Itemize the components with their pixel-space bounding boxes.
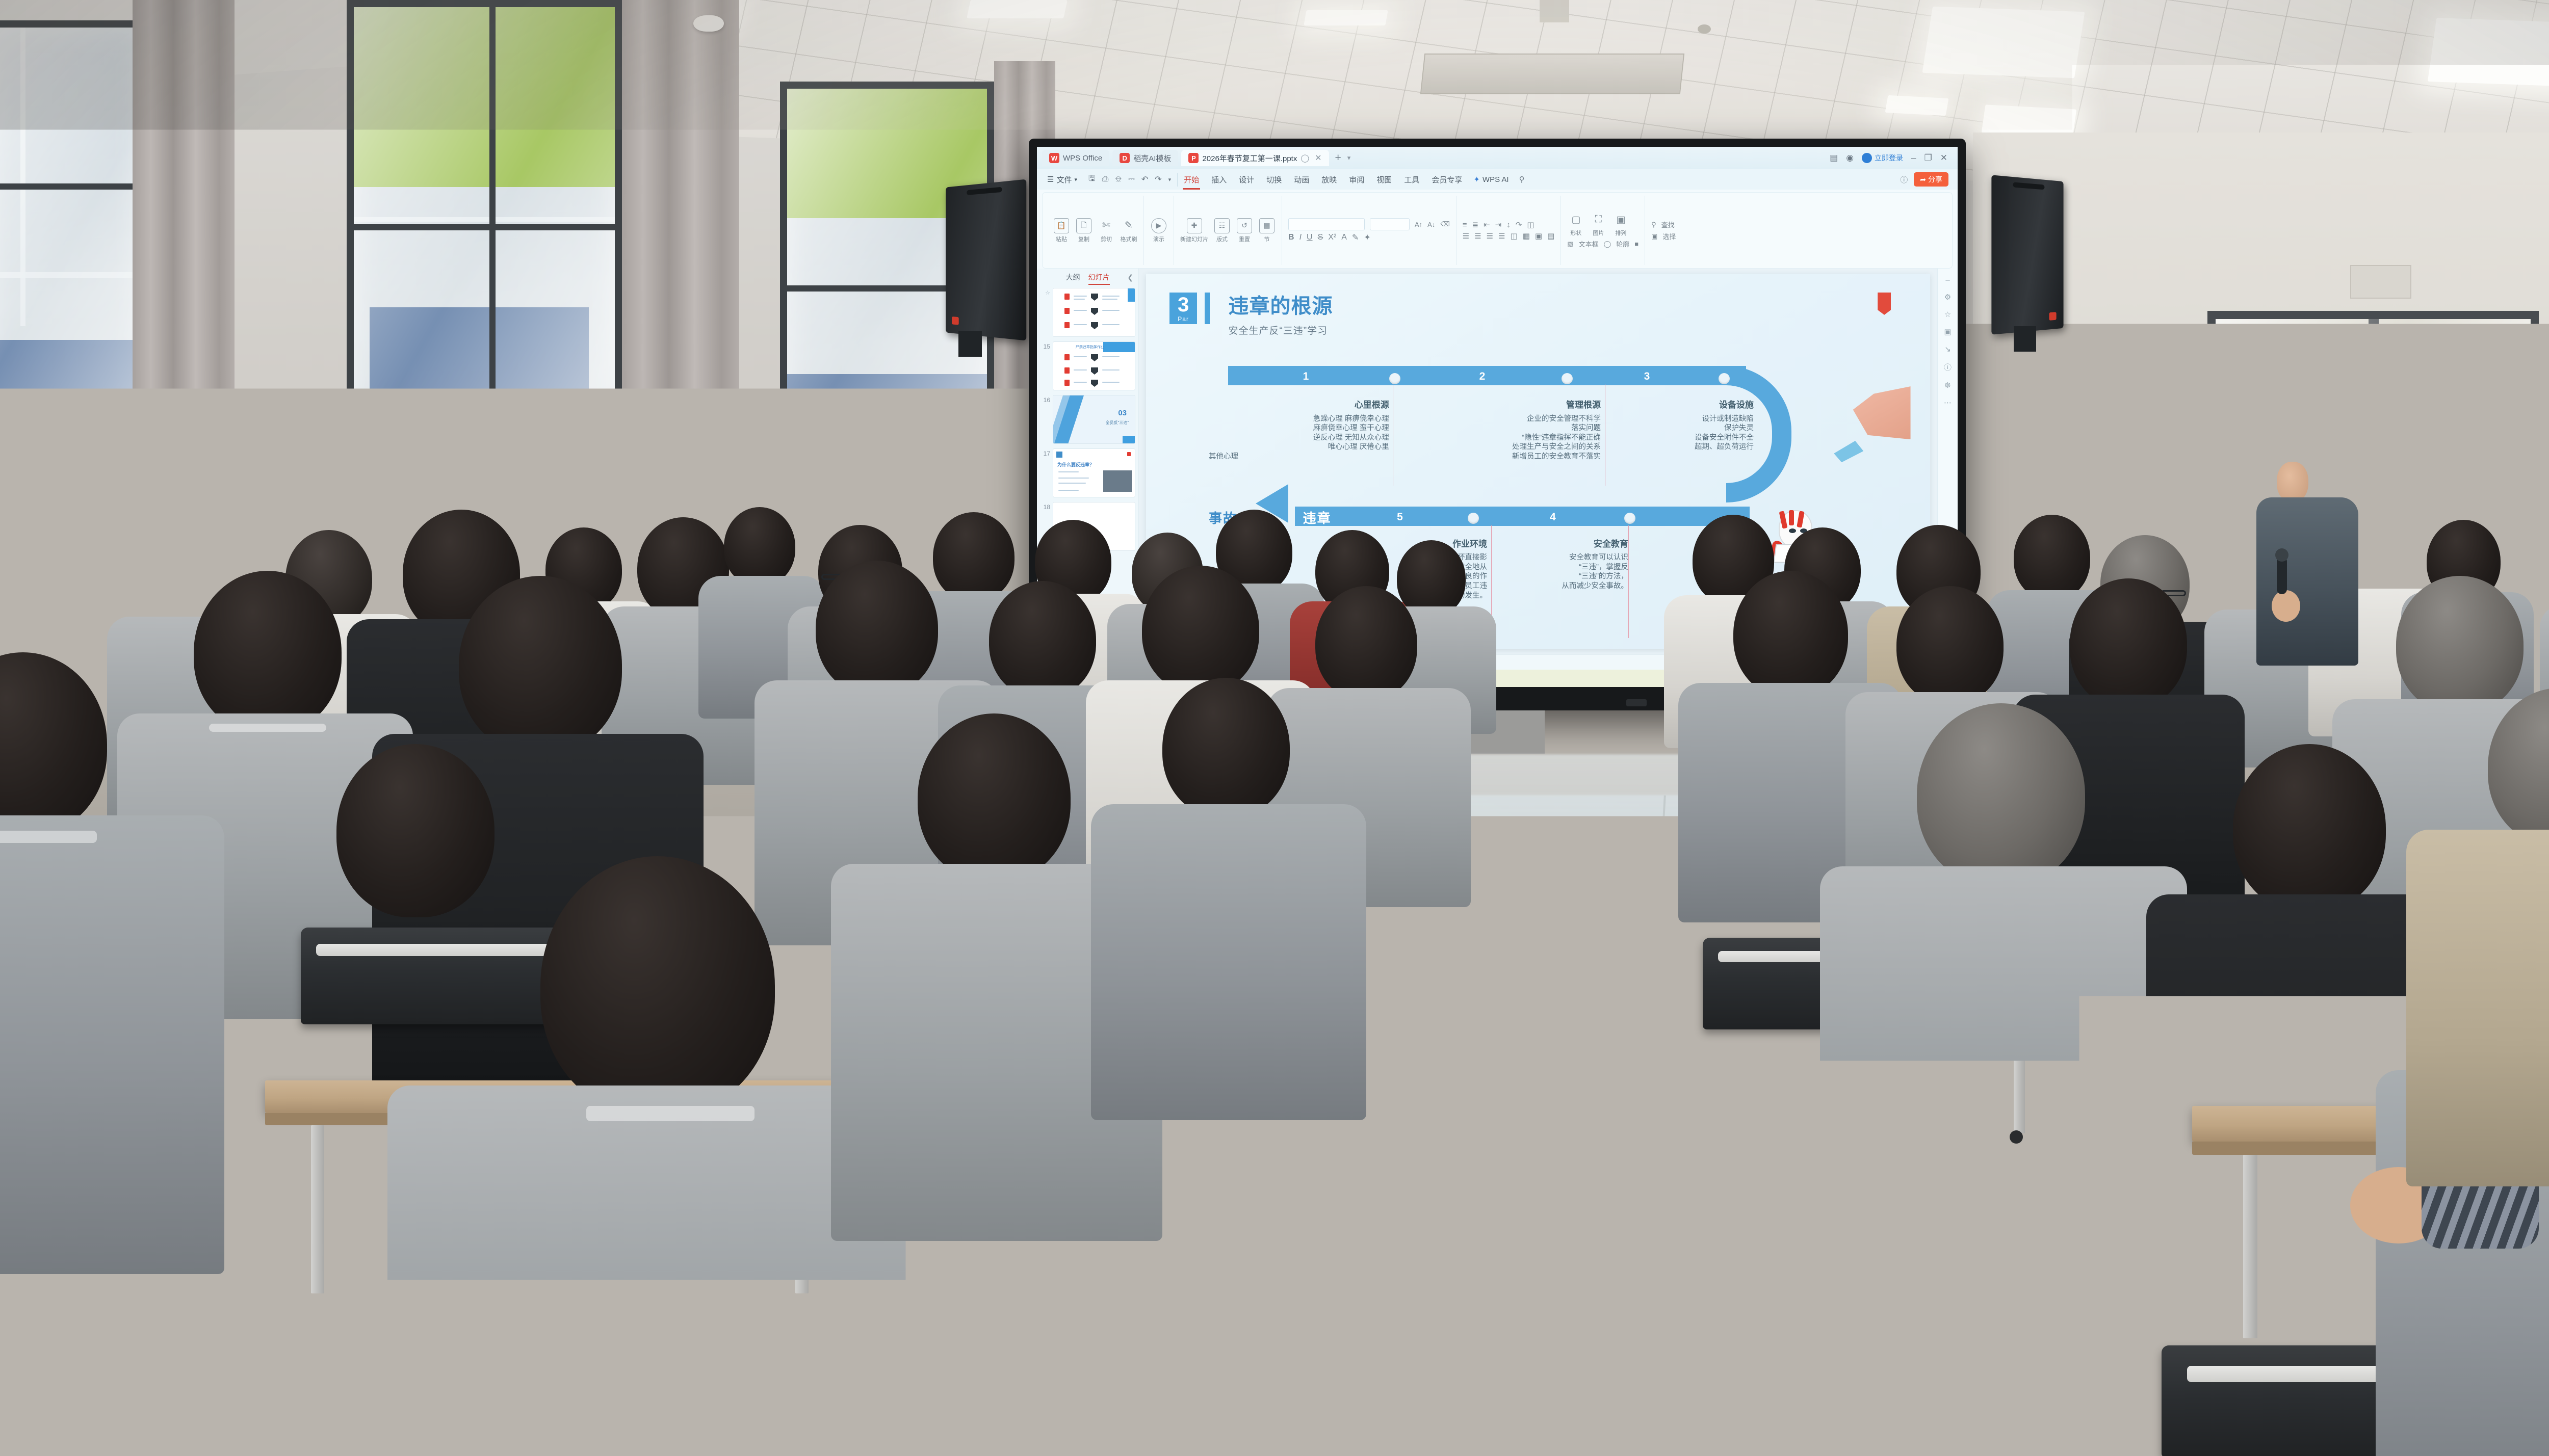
- slide-number: 18: [1040, 502, 1050, 511]
- ribbon-group-newslide: ✚ 新建幻灯片 ☷ 版式 ↺ 重置: [1174, 196, 1282, 265]
- ribbon-tab-tools[interactable]: 工具: [1403, 172, 1420, 187]
- ai-assistant-icon[interactable]: ☸: [1944, 381, 1951, 390]
- strikethrough-icon[interactable]: S: [1318, 233, 1323, 242]
- new-slide-label: 新建幻灯片: [1180, 235, 1208, 243]
- align-left-icon[interactable]: ☰: [1463, 231, 1469, 241]
- step-number-4: 4: [1550, 511, 1556, 523]
- wall-speaker-left: [946, 179, 1026, 341]
- section-label: 节: [1264, 235, 1270, 243]
- textbox-icon[interactable]: ▧: [1567, 240, 1573, 248]
- help-circle-icon[interactable]: ⓘ: [1944, 362, 1952, 373]
- thumbnail-star-icon: ☆: [1040, 288, 1050, 296]
- settings-sliders-icon[interactable]: ⚙: [1944, 293, 1951, 302]
- font-controls-row: A↑ A↓ ⌫: [1288, 218, 1450, 230]
- ribbon-tab-member[interactable]: 会员专享: [1430, 172, 1463, 187]
- ribbon-group-paragraph: ≡ ≣ ⇤ ⇥ ↕ ↷ ◫ ☰ ☰ ☰ ☰: [1456, 196, 1562, 265]
- flow-track-bottom: [1295, 507, 1750, 526]
- hamburger-icon: ☰: [1047, 175, 1054, 184]
- display-power-indicator: [1626, 699, 1647, 706]
- redo-icon[interactable]: ↷: [1155, 174, 1161, 184]
- ribbon-group-drawing: ▢ 形状 ⛶ 图片 ▣ 排列: [1561, 196, 1645, 265]
- picture-label: 图片: [1593, 229, 1604, 237]
- login-button[interactable]: 立即登录: [1862, 153, 1903, 163]
- tab-label: WPS Office: [1063, 154, 1102, 163]
- window-right-controls: ▤ ◉ 立即登录 – ❐ ✕: [1830, 153, 1953, 163]
- column-divider: [1628, 525, 1629, 638]
- column-line: 其他心理: [1209, 452, 1389, 462]
- column-line: 唯心心理 厌倦心里: [1209, 442, 1389, 452]
- align-right-icon[interactable]: ☰: [1487, 231, 1493, 241]
- ribbon-tab-transitions[interactable]: 切换: [1265, 172, 1283, 187]
- tab-cloud-icon[interactable]: ◯: [1300, 153, 1309, 163]
- reset-icon: ↺: [1237, 218, 1252, 233]
- column-line: 急躁心理 麻痹侥幸心理: [1209, 414, 1389, 424]
- reset-button[interactable]: ↺ 重置: [1236, 218, 1253, 243]
- tab-wps-office[interactable]: W WPS Office: [1042, 150, 1109, 166]
- docer-icon: D: [1120, 153, 1130, 163]
- section-number: 03: [1118, 409, 1127, 417]
- step-number-5: 5: [1397, 511, 1403, 523]
- thumbnail-panel-tabs: 大纲 幻灯片 ❮: [1037, 269, 1138, 286]
- search-print-icon[interactable]: ⎓: [1128, 175, 1135, 184]
- share-icon: ➦: [1920, 175, 1926, 184]
- step-column-1: 心里根源 急躁心理 麻痹侥幸心理 麻痹侥幸心理 蛮干心理 逆反心理 无知从众心理…: [1209, 400, 1389, 461]
- thumbnail-title: 严禁违章指挥作业: [1076, 345, 1104, 350]
- ribbon-tab-slideshow[interactable]: 放映: [1320, 172, 1338, 187]
- column-line: 超期、超负荷运行: [1612, 442, 1754, 452]
- wps-logo-icon: W: [1049, 153, 1059, 163]
- italic-icon[interactable]: I: [1299, 233, 1302, 242]
- tab-active-presentation[interactable]: P 2026年春节复工第一课.pptx ◯ ✕: [1181, 150, 1329, 166]
- close-button[interactable]: ✕: [1940, 153, 1947, 163]
- new-slide-button[interactable]: ✚ 新建幻灯片: [1180, 218, 1208, 243]
- shapes-icon: ▢: [1568, 212, 1583, 227]
- slide-thumbnail[interactable]: [1053, 288, 1135, 337]
- slide-number: 17: [1040, 448, 1050, 457]
- slide-title: 违章的根源: [1228, 289, 1333, 319]
- shapes-button[interactable]: ▢ 形状: [1567, 212, 1584, 237]
- format-painter-button[interactable]: ✎ 格式刷: [1120, 218, 1137, 243]
- presenter-face: [2277, 462, 2308, 502]
- percent-tools-icon[interactable]: ↘: [1944, 345, 1951, 354]
- column-line: “三违”，掌握反: [1503, 563, 1628, 572]
- list-item[interactable]: 17 为什么要反违章？: [1040, 448, 1135, 497]
- print-preview-icon[interactable]: ⎙: [1102, 175, 1109, 184]
- list-item[interactable]: 15 严禁违章指挥作业: [1040, 341, 1135, 390]
- ceiling-sprinkler: [1698, 24, 1711, 34]
- quick-access-toolbar: 🖫 ⎙ ⎒ ⎓ ↶ ↷ ▾: [1082, 173, 1178, 187]
- picture-button[interactable]: ⛶ 图片: [1590, 212, 1607, 237]
- chevron-down-icon[interactable]: ▾: [1347, 154, 1351, 162]
- column-divider: [1605, 384, 1605, 486]
- tab-slides[interactable]: 幻灯片: [1088, 272, 1110, 282]
- file-menu-button[interactable]: ☰ 文件 ▾: [1042, 174, 1082, 185]
- ribbon-tab-view[interactable]: 视图: [1375, 172, 1393, 187]
- app-tabbar: W WPS Office D 稻壳AI模板 P 2026年春节复工第一课.ppt…: [1037, 147, 1958, 169]
- find-icon[interactable]: ⚲: [1651, 221, 1656, 229]
- font-name-select[interactable]: [1288, 218, 1365, 230]
- window-glare: [0, 28, 141, 706]
- training-room-scene: W WPS Office D 稻壳AI模板 P 2026年春节复工第一课.ppt…: [0, 0, 2549, 1456]
- text-direction-icon[interactable]: ↷: [1516, 220, 1522, 229]
- column-divider: [1393, 384, 1393, 486]
- ribbon-tab-animations[interactable]: 动画: [1293, 172, 1310, 187]
- column-line: “隐性”违章指挥不能正确: [1405, 433, 1601, 443]
- step-number-2: 2: [1479, 370, 1486, 383]
- shirt-collar: [209, 724, 326, 732]
- justify-icon[interactable]: ☰: [1498, 231, 1505, 241]
- list-item[interactable]: ☆: [1040, 288, 1135, 337]
- smartart-icon[interactable]: ▦: [1523, 231, 1530, 241]
- ceiling-light: [1885, 95, 1949, 116]
- clear-format-icon[interactable]: ⌫: [1440, 220, 1449, 228]
- track-dot: [1468, 513, 1479, 524]
- copy-label: 复制: [1078, 235, 1089, 243]
- align-center-icon[interactable]: ☰: [1474, 231, 1481, 241]
- outdent-icon[interactable]: ⇤: [1484, 220, 1490, 229]
- share-label: 分享: [1928, 174, 1942, 184]
- indent-icon[interactable]: ⇥: [1495, 220, 1502, 229]
- speaker-mount: [2014, 326, 2036, 352]
- slide-thumbnail[interactable]: 严禁违章指挥作业: [1053, 341, 1135, 390]
- section-word: Par: [1178, 316, 1189, 322]
- ribbon-group-clipboard: 📋 粘贴 🗋 复制 ✄ 剪切: [1047, 196, 1144, 265]
- chevron-down-icon[interactable]: ▾: [1168, 176, 1172, 183]
- slide-thumbnail[interactable]: 为什么要反违章？: [1053, 448, 1135, 497]
- ribbon-tab-review[interactable]: 审阅: [1348, 172, 1365, 187]
- shirt-collar: [0, 831, 97, 843]
- new-tab-button[interactable]: +: [1332, 152, 1344, 164]
- column-line: 新增员工的安全教育不落实: [1405, 452, 1601, 462]
- user-avatar-icon: [1862, 153, 1872, 163]
- new-slide-icon: ✚: [1187, 218, 1202, 233]
- column-line: 设计或制造缺陷: [1612, 414, 1754, 424]
- menu-bar: ☰ 文件 ▾ 🖫 ⎙ ⎒ ⎓ ↶ ↷ ▾ 开始: [1037, 169, 1958, 190]
- arrange-label: 排列: [1615, 229, 1626, 237]
- column-line: 保护失灵: [1612, 423, 1754, 433]
- column-heading: 安全教育: [1503, 539, 1628, 550]
- scissors-icon: ✄: [1099, 218, 1114, 233]
- bold-icon[interactable]: B: [1288, 233, 1294, 242]
- wall-socket: [2075, 479, 2100, 502]
- speaker-mount: [958, 331, 982, 357]
- picture-icon: ⛶: [1591, 212, 1606, 227]
- copy-icon: 🗋: [1076, 218, 1091, 233]
- section-icon: ▤: [1259, 218, 1274, 233]
- chevron-left-icon[interactable]: ❮: [1127, 273, 1133, 282]
- paste-button[interactable]: 📋 粘贴: [1053, 218, 1070, 243]
- layout-icon: ☷: [1214, 218, 1230, 233]
- file-menu-label: 文件: [1056, 174, 1072, 185]
- ribbon-group-slides: ▶ 演示: [1144, 196, 1174, 265]
- smoke-detector: [693, 15, 724, 32]
- track-dot: [1719, 373, 1730, 384]
- step-column-4: 安全教育 安全教育可以认识 “三违”，掌握反 “三违”的方法， 从而减少安全事故…: [1503, 539, 1628, 591]
- outline-icon[interactable]: ◯: [1604, 240, 1611, 248]
- ceiling-light: [2428, 18, 2549, 87]
- slide-thumbnail[interactable]: 03 全员反“三违”: [1053, 395, 1135, 444]
- line-spacing-icon[interactable]: ↕: [1506, 221, 1511, 229]
- presenter-hand: [2272, 590, 2300, 622]
- favorites-star-icon[interactable]: ☆: [1944, 310, 1951, 319]
- tab-docer-templates[interactable]: D 稻壳AI模板: [1112, 150, 1178, 166]
- play-button[interactable]: ▶ 演示: [1150, 218, 1167, 243]
- mobile-sync-icon[interactable]: ▤: [1830, 153, 1838, 163]
- shapes-label: 形状: [1570, 229, 1581, 237]
- track-dot: [1562, 373, 1573, 384]
- minimize-panel-icon[interactable]: –: [1945, 276, 1949, 284]
- globe-icon[interactable]: ◉: [1846, 153, 1854, 163]
- section-number: 3: [1178, 295, 1189, 315]
- text-effects-icon[interactable]: ✦: [1364, 232, 1370, 243]
- ribbon-tab-strip: 开始 插入 设计 切换 动画 放映 审阅 视图 工具 会员专享 ✦ WPS AI: [1183, 172, 1524, 187]
- maximize-button[interactable]: ❐: [1924, 153, 1932, 163]
- step-number-3: 3: [1644, 370, 1650, 383]
- play-label: 演示: [1153, 235, 1164, 243]
- microphone-body: [2277, 557, 2287, 594]
- find-label: 查找: [1661, 220, 1675, 229]
- close-icon[interactable]: ✕: [1315, 153, 1321, 163]
- column-line: 企业的安全管理不科学: [1405, 414, 1601, 424]
- wps-ai-label: WPS AI: [1482, 175, 1509, 184]
- shrink-font-icon[interactable]: A↓: [1427, 221, 1435, 228]
- ceiling-projector-mount: [1540, 0, 1569, 22]
- arrange-button[interactable]: ▣ 排列: [1612, 212, 1629, 237]
- grow-font-icon[interactable]: A↑: [1415, 221, 1422, 228]
- columns-icon[interactable]: ◫: [1511, 231, 1518, 241]
- font-color-icon[interactable]: A: [1341, 233, 1347, 242]
- slide-subtitle: 安全生产反“三违”学习: [1228, 323, 1328, 337]
- microphone-head: [2275, 548, 2288, 562]
- layout-label: 版式: [1216, 235, 1228, 243]
- ceiling-air-vent: [1420, 54, 1684, 94]
- print-icon[interactable]: ⎒: [1115, 175, 1122, 184]
- ribbon-tab-design[interactable]: 设计: [1238, 172, 1255, 187]
- text-highlight-icon[interactable]: ✎: [1352, 232, 1359, 243]
- ceiling-light: [1304, 10, 1388, 25]
- step-number-1: 1: [1303, 370, 1309, 383]
- column-heading: 心里根源: [1209, 400, 1389, 411]
- underline-icon[interactable]: U: [1307, 233, 1313, 242]
- section-button[interactable]: ▤ 节: [1258, 218, 1276, 243]
- font-size-select[interactable]: [1370, 218, 1410, 230]
- tab-label: 稻壳AI模板: [1133, 153, 1171, 164]
- help-circle-icon[interactable]: ⓘ: [1900, 174, 1908, 185]
- track-dot: [1624, 513, 1635, 524]
- ceiling-light: [1922, 7, 2085, 78]
- column-line: 安全教育可以认识: [1503, 553, 1628, 563]
- arrange-icon: ▣: [1613, 212, 1628, 227]
- align-text-icon[interactable]: ◫: [1527, 220, 1534, 229]
- save-icon[interactable]: 🖫: [1088, 173, 1096, 187]
- column-line: 落实问题: [1405, 423, 1601, 433]
- select-icon[interactable]: ▣: [1651, 232, 1657, 241]
- column-line: 从而减少安全事故。: [1503, 581, 1628, 591]
- section-title: 全员反“三违”: [1106, 420, 1129, 426]
- ribbon-tab-insert[interactable]: 插入: [1210, 172, 1228, 187]
- blue-cloth-decoration: [1834, 439, 1863, 462]
- share-button[interactable]: ➦ 分享: [1914, 172, 1948, 187]
- hand-photo-decoration: [1850, 386, 1911, 439]
- column-line: 处理生产与安全之间的关系: [1405, 442, 1601, 452]
- column-line: 麻痹侥幸心理 蛮干心理: [1209, 423, 1389, 433]
- search-icon[interactable]: ⚲: [1519, 175, 1525, 184]
- paste-label: 粘贴: [1056, 235, 1067, 243]
- ribbon-group-editing: ⚲ 查找 ▣ 选择: [1645, 196, 1682, 265]
- bullet-list-icon[interactable]: ≡: [1463, 221, 1467, 229]
- thumbnail-title: 为什么要反违章？: [1057, 461, 1094, 468]
- format-painter-label: 格式刷: [1121, 235, 1137, 243]
- presenter-torso: [2256, 497, 2358, 666]
- powerpoint-file-icon: P: [1188, 153, 1199, 163]
- column-line: 逆反心理 无知从众心理: [1209, 433, 1389, 443]
- undo-icon[interactable]: ↶: [1141, 174, 1148, 184]
- slide-number: 15: [1040, 341, 1050, 350]
- column-heading: 管理根源: [1405, 400, 1601, 411]
- window-far-left: [0, 20, 148, 713]
- textbox-label: 文本框: [1579, 239, 1599, 249]
- column-heading: 设备设施: [1612, 400, 1754, 411]
- column-line: 设备安全附件不全: [1612, 433, 1754, 443]
- copy-button[interactable]: 🗋 复制: [1075, 218, 1093, 243]
- reflection-band: [1723, 1060, 1734, 1157]
- layout-button[interactable]: ☷ 版式: [1213, 218, 1231, 243]
- ribbon-group-font: A↑ A↓ ⌫ B I U S X² A ✎ ✦: [1282, 196, 1456, 265]
- step-column-3: 设备设施 设计或制造缺陷 保护失灵 设备安全附件不全 超期、超负荷运行: [1612, 400, 1754, 452]
- window-handle[interactable]: [805, 520, 811, 555]
- shirt-collar: [586, 1106, 755, 1121]
- superscript-icon[interactable]: X²: [1328, 233, 1336, 242]
- fill-icon[interactable]: ■: [1634, 240, 1638, 248]
- list-item[interactable]: 16 03 全员反“三违”: [1040, 395, 1135, 444]
- format-painter-icon: ✎: [1121, 218, 1136, 233]
- convert-icon[interactable]: ▣: [1535, 231, 1542, 241]
- chevron-down-icon: ▾: [1074, 176, 1077, 183]
- shapes-library-icon[interactable]: ▣: [1944, 327, 1951, 336]
- reflection-band: [1484, 1054, 1733, 1065]
- play-circle-icon: ▶: [1151, 218, 1166, 233]
- more-options-icon[interactable]: ⋯: [1944, 398, 1952, 407]
- outline-label: 轮廓: [1616, 239, 1629, 249]
- section-badge: 3 Par: [1169, 293, 1197, 324]
- tab-outline[interactable]: 大纲: [1066, 272, 1080, 282]
- column-line: “三违”的方法，: [1503, 572, 1628, 581]
- flow-arrow-label: 违章: [1303, 508, 1332, 527]
- reflection-band: [1427, 1146, 1744, 1157]
- paste-icon: 📋: [1054, 218, 1069, 233]
- menubar-right: ⓘ ➦ 分享: [1900, 172, 1953, 187]
- exit-sign: [2350, 265, 2411, 299]
- select-label: 选择: [1662, 231, 1676, 241]
- paragraph-settings-icon[interactable]: ▤: [1547, 231, 1554, 241]
- tab-label: 2026年春节复工第一课.pptx: [1202, 153, 1297, 164]
- login-label: 立即登录: [1875, 153, 1903, 163]
- slide-number: 16: [1040, 395, 1050, 404]
- door-handle[interactable]: [2376, 438, 2381, 515]
- reset-label: 重置: [1239, 235, 1250, 243]
- ribbon-tab-home[interactable]: 开始: [1183, 172, 1200, 187]
- wall-speaker-right: [1991, 175, 2063, 334]
- cut-button[interactable]: ✄ 剪切: [1098, 218, 1115, 243]
- font-style-row: B I U S X² A ✎ ✦: [1288, 232, 1450, 243]
- wps-ai-button[interactable]: ✦ WPS AI: [1473, 175, 1508, 184]
- ribbon: 📋 粘贴 🗋 复制 ✄ 剪切: [1042, 192, 1953, 269]
- track-dot: [1389, 373, 1400, 384]
- numbered-list-icon[interactable]: ≣: [1472, 220, 1479, 229]
- step-column-2: 管理根源 企业的安全管理不科学 落实问题 “隐性”违章指挥不能正确 处理生产与安…: [1405, 400, 1601, 461]
- cut-label: 剪切: [1101, 235, 1112, 243]
- minimize-button[interactable]: –: [1911, 153, 1916, 163]
- ai-sparkle-icon: ✦: [1473, 175, 1480, 184]
- title-accent-bar: [1205, 293, 1210, 324]
- bookmark-ribbon-icon: [1878, 293, 1891, 315]
